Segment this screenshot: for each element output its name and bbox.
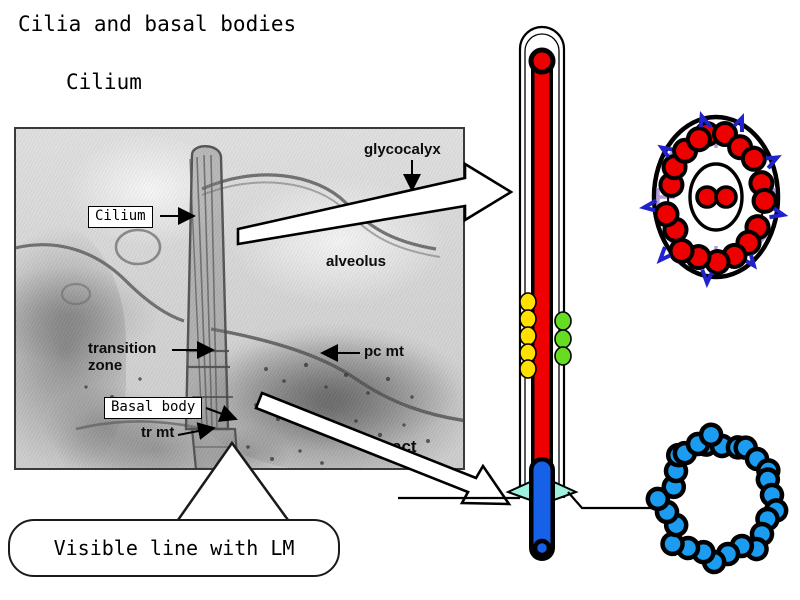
label-act: act xyxy=(392,437,417,456)
basal-body-proximal-end xyxy=(535,541,549,555)
callout-text: Visible line with LM xyxy=(10,536,338,560)
central-pair-sheath xyxy=(690,164,742,230)
page-subtitle: Cilium xyxy=(66,70,142,94)
label-basal-body-box: Basal body xyxy=(104,397,202,419)
label-alveolus: alveolus xyxy=(326,254,386,271)
central-microtubule-1 xyxy=(697,187,717,207)
central-microtubule-2 xyxy=(716,187,736,207)
micrograph-grain xyxy=(16,129,463,468)
transition-zone-yellow-dots xyxy=(520,293,536,378)
label-transition-zone-line2: zone xyxy=(88,358,122,375)
callout-balloon: Visible line with LM xyxy=(8,519,340,577)
electron-micrograph xyxy=(14,127,465,470)
label-cilium-box: Cilium xyxy=(88,206,153,228)
nexin-link-ring xyxy=(668,134,764,260)
transition-zone-green-dots xyxy=(555,312,571,365)
axoneme-membrane xyxy=(654,117,778,277)
label-glycocalyx: glycocalyx xyxy=(364,142,441,159)
page-title: Cilia and basal bodies xyxy=(18,12,296,36)
outer-doublets xyxy=(644,116,783,283)
slide-canvas: Cilia and basal bodies Cilium xyxy=(0,0,800,600)
plasma-membrane-outline xyxy=(520,27,564,498)
micrograph-membranes xyxy=(16,129,465,470)
basal-body-triplets xyxy=(644,421,788,576)
axoneme-distal-tip xyxy=(531,50,553,72)
label-tr-mt: tr mt xyxy=(141,425,174,442)
basal-foot-left xyxy=(508,482,530,500)
basal-foot-right xyxy=(554,482,576,500)
label-transition-zone-line1: transition xyxy=(88,341,156,358)
radial-spokes xyxy=(658,131,774,264)
micrograph-cytoplasm-region xyxy=(186,324,465,470)
plasma-membrane-inner xyxy=(525,34,559,498)
connector-to-basal-body-cs xyxy=(568,492,672,508)
label-pc-mt: pc mt xyxy=(364,344,404,361)
